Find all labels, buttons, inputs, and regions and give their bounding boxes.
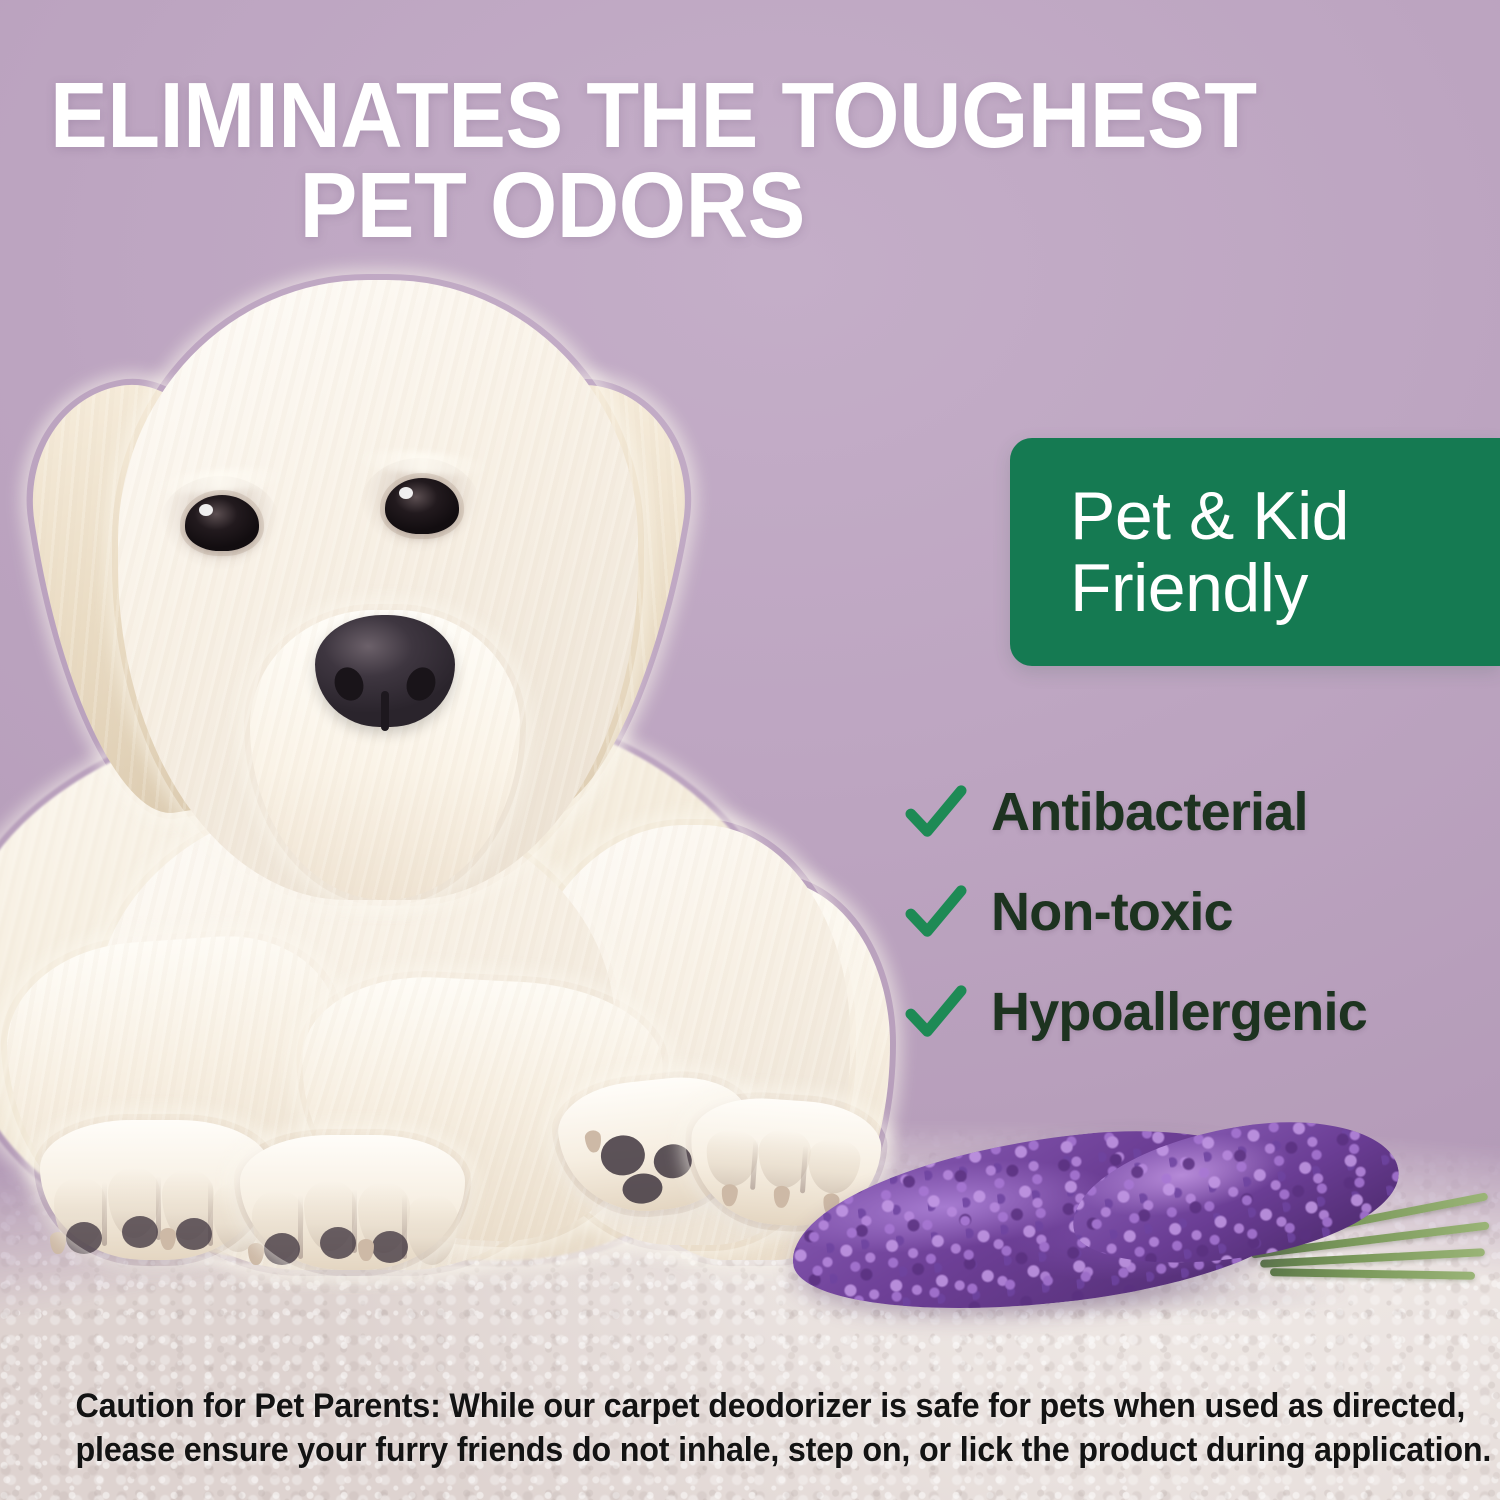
caution-line-1: Caution for Pet Parents: While our carpe… [76,1384,1425,1428]
caution-note: Caution for Pet Parents: While our carpe… [38,1384,1463,1472]
headline-line-1: ELIMINATES THE TOUGHEST [50,70,1352,160]
check-icon [905,781,967,843]
feature-item-antibacterial: Antibacterial [905,762,1500,862]
puppy-photo [0,280,900,1210]
puppy-nose [315,615,455,727]
pet-kid-friendly-badge: Pet & Kid Friendly [1010,438,1500,666]
badge-line-1: Pet & Kid [1070,478,1349,554]
lavender-bundle [770,1120,1500,1340]
badge-text: Pet & Kid Friendly [1010,480,1349,624]
feature-list: Antibacterial Non-toxic Hypoallergenic [905,762,1500,1062]
puppy-eye-left [185,495,259,551]
feature-label: Hypoallergenic [991,981,1367,1043]
check-icon [905,981,967,1043]
product-infographic: ELIMINATES THE TOUGHEST PET ODORS Pet & … [0,0,1500,1500]
headline-line-2: PET ODORS [50,160,1054,250]
feature-label: Antibacterial [991,781,1308,843]
headline: ELIMINATES THE TOUGHEST PET ODORS [50,70,1352,250]
badge-line-2: Friendly [1070,550,1308,626]
puppy-paw-front-right [240,1135,465,1270]
caution-line-2: please ensure your furry friends do not … [76,1428,1425,1472]
check-icon [905,881,967,943]
feature-item-non-toxic: Non-toxic [905,862,1500,962]
feature-item-hypoallergenic: Hypoallergenic [905,962,1500,1062]
puppy-eye-right [385,478,459,534]
lavender-stem [1270,1268,1475,1280]
puppy-paw-front-left [40,1120,270,1260]
feature-label: Non-toxic [991,881,1233,943]
